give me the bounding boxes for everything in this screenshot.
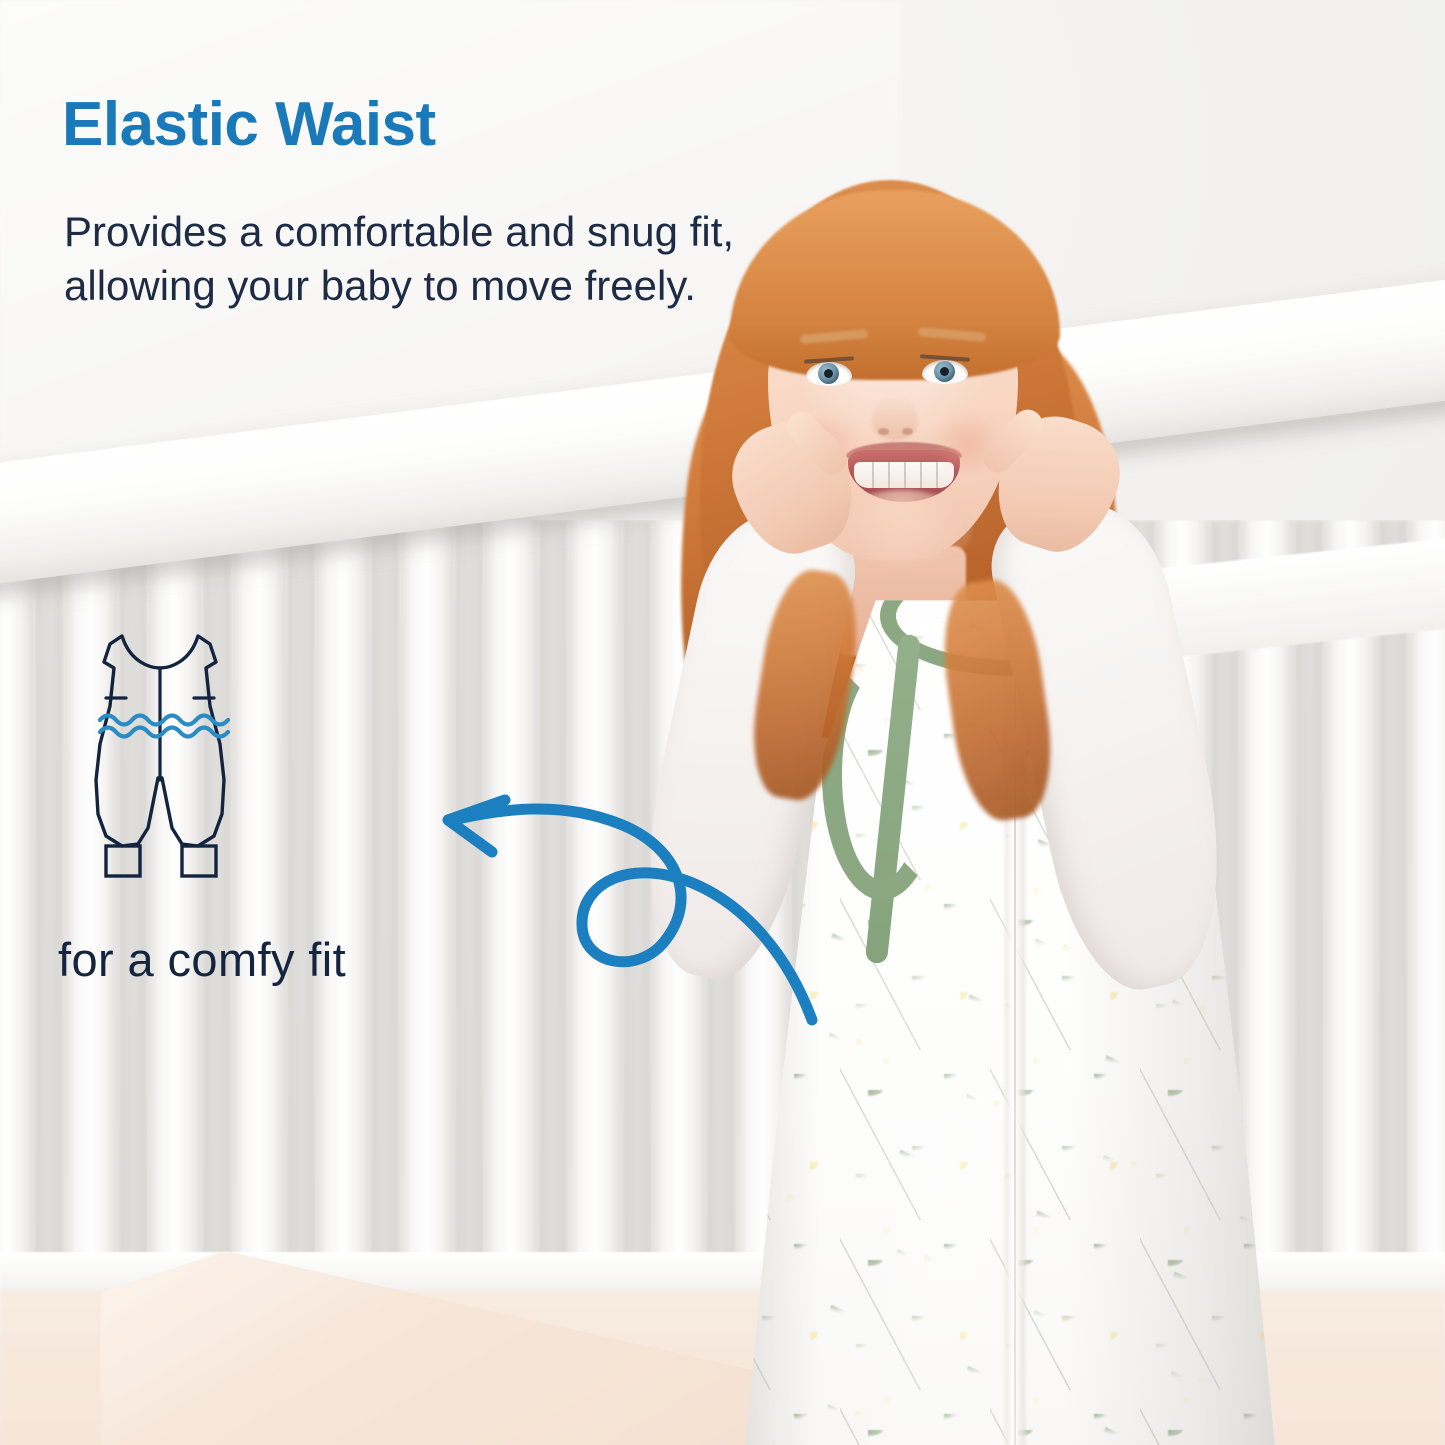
nostril-right bbox=[902, 428, 913, 435]
icon-elastic-wave-top bbox=[100, 716, 228, 725]
child-photo-subject bbox=[560, 150, 1380, 1445]
nostril-left bbox=[878, 428, 889, 435]
icon-cuff-right bbox=[182, 846, 216, 876]
pupil-left bbox=[824, 369, 833, 378]
iris-left bbox=[818, 363, 839, 384]
hair-fringe bbox=[730, 190, 1060, 380]
eye-left bbox=[806, 362, 852, 386]
icon-caption: for a comfy fit bbox=[58, 932, 346, 987]
infographic-canvas: Elastic Waist Provides a comfortable and… bbox=[0, 0, 1445, 1445]
icon-cuff-left bbox=[106, 846, 140, 876]
sleep-sack-with-legs-icon bbox=[70, 628, 260, 918]
crib-slat-gap bbox=[34, 520, 64, 1320]
crib-slat-gap bbox=[286, 520, 316, 1320]
iris-right bbox=[934, 361, 955, 382]
crib-slat bbox=[1408, 520, 1445, 1320]
description-text: Provides a comfortable and snug fit, all… bbox=[64, 205, 764, 313]
crib-slat bbox=[484, 520, 538, 1320]
teeth bbox=[854, 462, 954, 488]
chin bbox=[832, 490, 972, 568]
crib-slat bbox=[316, 520, 370, 1320]
crib-slat-gap bbox=[370, 520, 400, 1320]
icon-elastic-wave-bottom bbox=[100, 728, 228, 737]
crib-slat-gap bbox=[1378, 520, 1408, 1320]
crib-slat bbox=[400, 520, 454, 1320]
crib-slat-gap bbox=[454, 520, 484, 1320]
eye-right bbox=[922, 360, 968, 384]
pupil-right bbox=[940, 367, 949, 376]
page-title: Elastic Waist bbox=[62, 92, 436, 157]
crib-slat bbox=[0, 520, 34, 1320]
